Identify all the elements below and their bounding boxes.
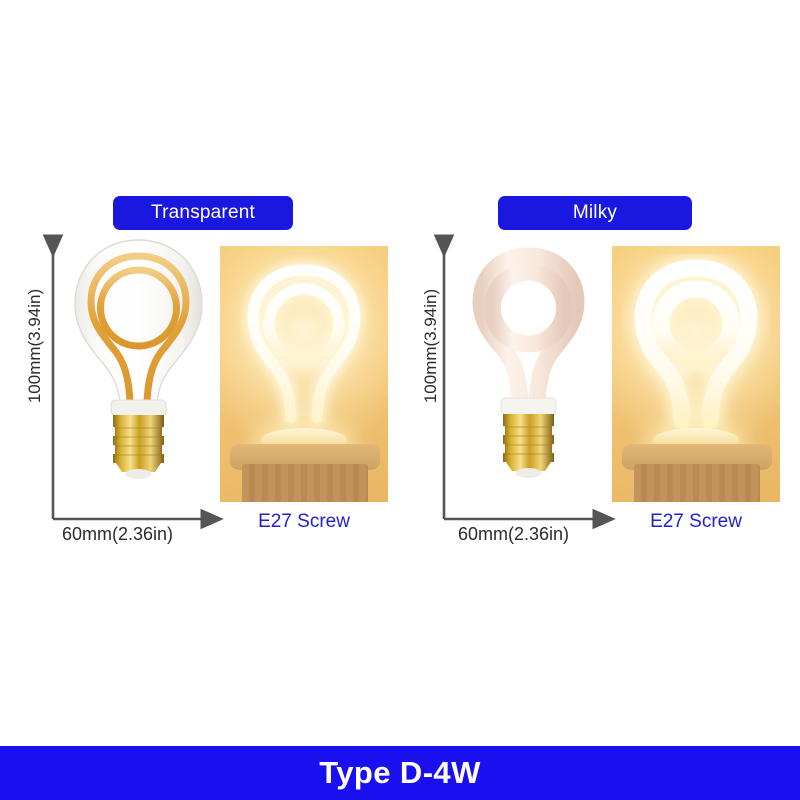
product-comparison-page: Transparent 100mm(3.94in) 60mm(2.36in): [0, 0, 800, 800]
product-photo-transparent-lit: [220, 246, 388, 502]
dimension-height-label: 100mm(3.94in): [421, 261, 441, 431]
socket-type-label-transparent: E27 Screw: [220, 511, 388, 533]
bulb-product-transparent: [66, 234, 211, 499]
wooden-stand: [612, 444, 780, 502]
dimension-width-label: 60mm(2.36in): [62, 524, 173, 545]
product-photo-milky-lit: [612, 246, 780, 502]
variant-panel-milky: Milky 100mm(3.94in) 60mm(2.36in): [396, 186, 786, 566]
wood-front-face: [242, 464, 368, 502]
bulb-product-milky: [456, 234, 601, 499]
variant-panel-transparent: Transparent 100mm(3.94in) 60mm(2.36in): [8, 186, 398, 566]
wood-front-face: [634, 464, 760, 502]
product-type-title: Type D-4W: [319, 755, 480, 791]
wooden-stand: [220, 444, 388, 502]
dimension-height-label: 100mm(3.94in): [25, 261, 45, 431]
dimension-width-label: 60mm(2.36in): [458, 524, 569, 545]
product-type-banner: Type D-4W: [0, 746, 800, 800]
socket-type-label-milky: E27 Screw: [612, 511, 780, 533]
